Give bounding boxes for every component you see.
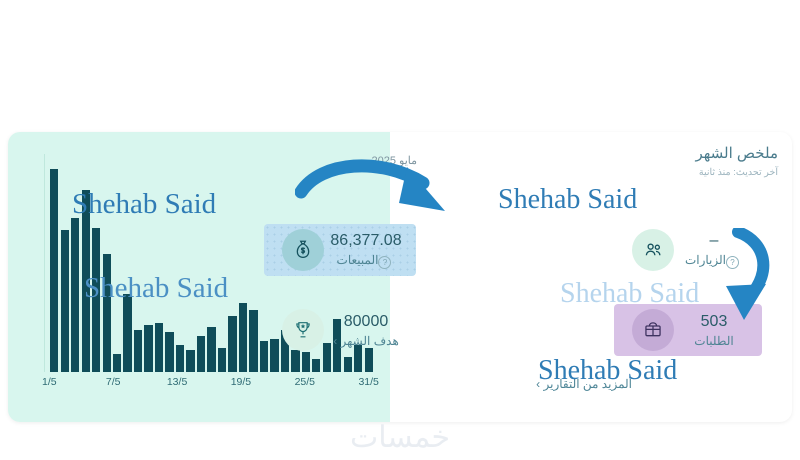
- last-updated-text: آخر تحديث: منذ ثانية: [695, 167, 778, 178]
- chart-bar[interactable]: [113, 354, 121, 372]
- x-axis-tick-label: 25/5: [295, 376, 315, 388]
- chart-area: 1/57/513/519/525/531/5: [18, 150, 378, 412]
- chart-bar[interactable]: [155, 323, 163, 372]
- metric-value: –: [674, 231, 754, 251]
- people-icon: [632, 229, 674, 271]
- chart-bar[interactable]: [239, 303, 247, 372]
- chart-bar[interactable]: [186, 350, 194, 372]
- month-summary-panel: 1/57/513/519/525/531/5 ملخص الشهر آخر تح…: [8, 132, 792, 422]
- chart-bar[interactable]: [123, 294, 131, 372]
- chart-bar[interactable]: [312, 359, 320, 372]
- chart-bar[interactable]: [207, 327, 215, 372]
- page-title: ملخص الشهر: [695, 144, 778, 162]
- metric-card-orders[interactable]: 503 الطلبات: [614, 304, 762, 356]
- chart-bar[interactable]: [103, 254, 111, 372]
- metric-caption-text: الزيارات: [685, 253, 726, 267]
- chart-bar[interactable]: [92, 228, 100, 372]
- chart-bar[interactable]: [228, 316, 236, 372]
- more-reports-link[interactable]: المزيد من التقارير ›: [536, 377, 632, 391]
- x-axis-tick-label: 19/5: [231, 376, 251, 388]
- chart-bar[interactable]: [344, 357, 352, 372]
- metric-texts: 80000 هدف الشهر ›: [324, 312, 408, 349]
- chart-bar[interactable]: [134, 330, 142, 372]
- metric-value: 80000: [324, 312, 408, 332]
- metric-texts: 86,377.08 ?المبيعات: [324, 231, 408, 269]
- metric-value: 503: [674, 312, 754, 332]
- x-axis-tick-label: 7/5: [106, 376, 121, 388]
- metric-caption-text: المبيعات: [337, 253, 379, 267]
- chart-bar[interactable]: [50, 169, 58, 372]
- metric-caption: ?المبيعات: [324, 253, 408, 269]
- x-axis-tick-label: 13/5: [167, 376, 187, 388]
- x-axis-tick-label: 31/5: [358, 376, 378, 388]
- chart-bar[interactable]: [144, 325, 152, 372]
- money-bag-icon: [282, 229, 324, 271]
- metric-card-visits[interactable]: – ?الزيارات: [614, 224, 762, 276]
- chart-bar[interactable]: [197, 336, 205, 372]
- trophy-icon: [282, 309, 324, 351]
- summary-header: ملخص الشهر آخر تحديث: منذ ثانية: [695, 144, 778, 178]
- metric-card-sales[interactable]: 86,377.08 ?المبيعات: [264, 224, 416, 276]
- chart-bar[interactable]: [82, 190, 90, 372]
- metric-value: 86,377.08: [324, 231, 408, 251]
- chart-bar[interactable]: [61, 230, 69, 372]
- chart-bar[interactable]: [176, 345, 184, 372]
- x-axis-tick-label: 1/5: [42, 376, 57, 388]
- metric-caption[interactable]: هدف الشهر ›: [324, 334, 408, 349]
- chart-bar[interactable]: [218, 348, 226, 372]
- metric-caption: ?الزيارات: [674, 253, 754, 269]
- watermark-site: خمسات: [0, 420, 800, 455]
- metric-card-monthly-goal[interactable]: 80000 هدف الشهر ›: [264, 304, 416, 356]
- chart-bar[interactable]: [71, 218, 79, 372]
- shopping-bag-icon: [632, 309, 674, 351]
- chart-bar[interactable]: [165, 332, 173, 372]
- metric-texts: 503 الطلبات: [674, 312, 754, 349]
- chart-bar[interactable]: [249, 310, 257, 372]
- help-icon[interactable]: ?: [378, 256, 391, 269]
- metric-texts: – ?الزيارات: [674, 231, 754, 269]
- month-label: مايو 2025: [371, 154, 417, 167]
- metric-caption: الطلبات: [674, 334, 754, 349]
- sales-chart-card: 1/57/513/519/525/531/5: [8, 132, 390, 422]
- x-axis-ticks: 1/57/513/519/525/531/5: [44, 376, 374, 394]
- help-icon[interactable]: ?: [726, 256, 739, 269]
